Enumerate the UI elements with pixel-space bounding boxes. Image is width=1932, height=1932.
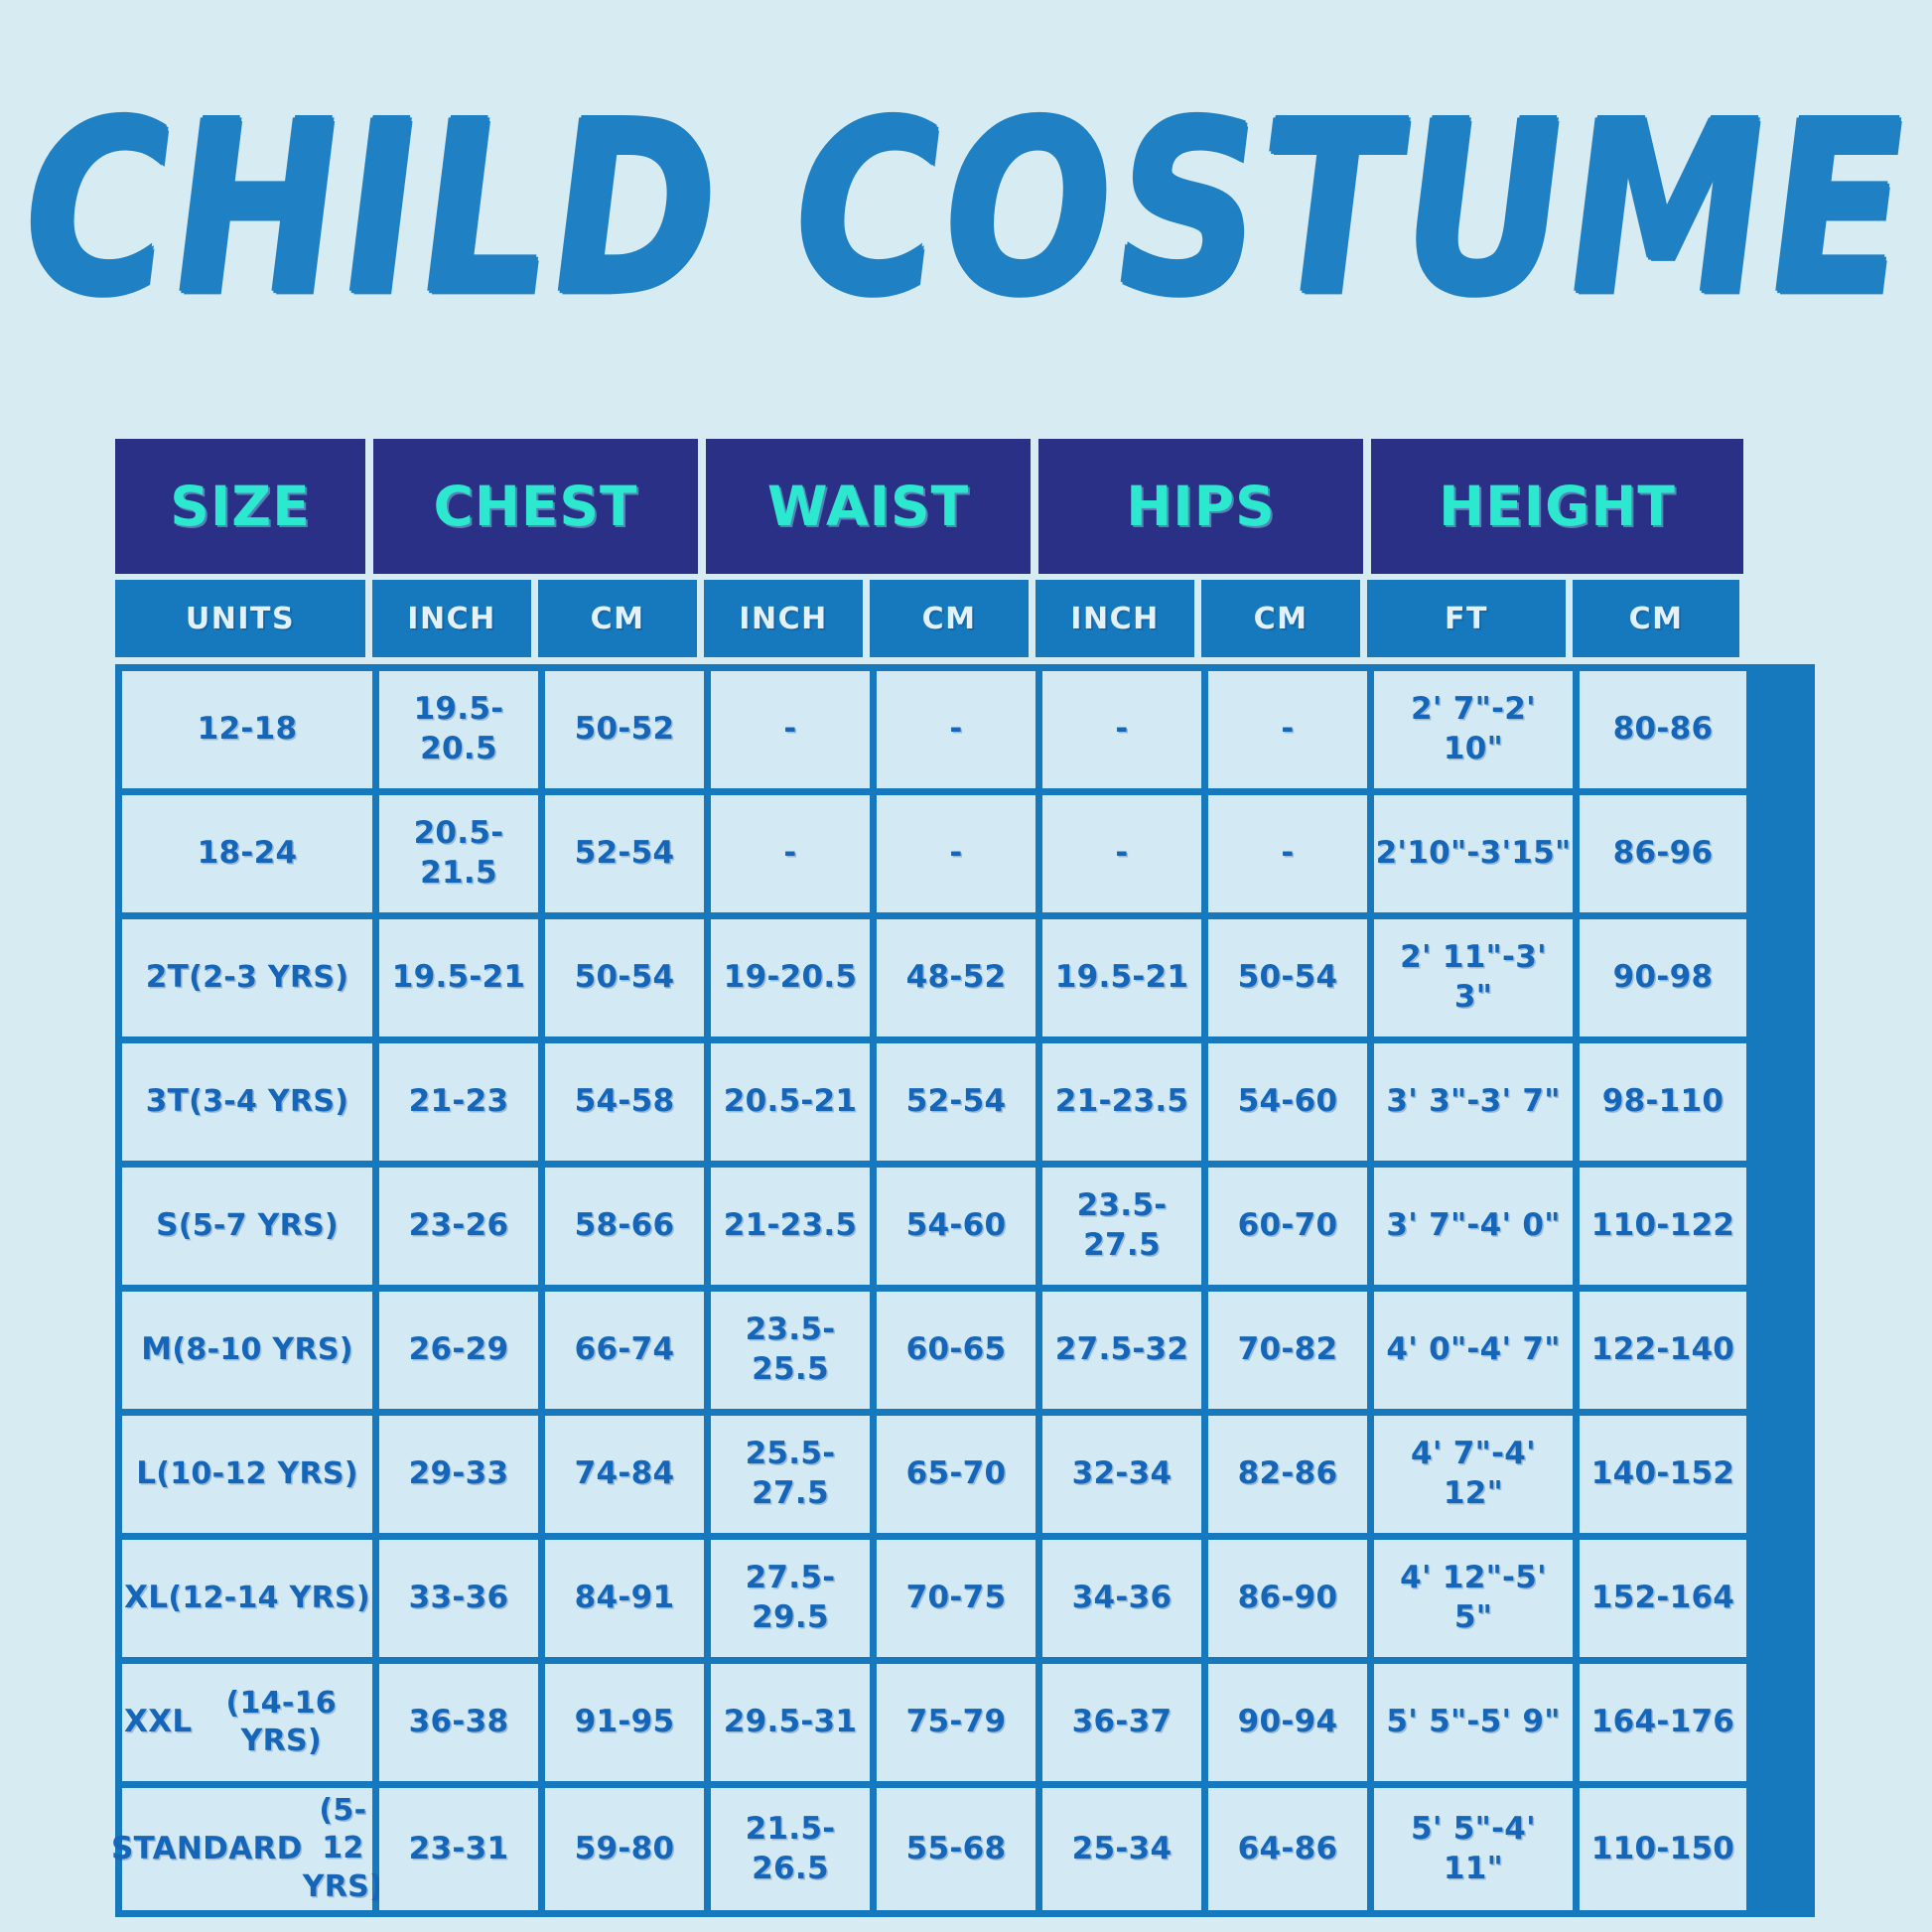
table-cell: 54-58 <box>545 1043 704 1161</box>
table-cell: 34-36 <box>1042 1540 1201 1657</box>
table-cell: 4' 7"-4' 12" <box>1374 1416 1573 1533</box>
table-cell: 91-95 <box>545 1664 704 1781</box>
table-cell: 19.5-20.5 <box>379 671 538 788</box>
group-header-waist: WAIST <box>706 439 1031 574</box>
size-name: XXL <box>124 1703 192 1742</box>
table-cell: 65-70 <box>877 1416 1035 1533</box>
table-cell: 70-75 <box>877 1540 1035 1657</box>
table-cell: 25.5-27.5 <box>711 1416 870 1533</box>
table-cell: 58-66 <box>545 1168 704 1285</box>
table-cell: 29-33 <box>379 1416 538 1533</box>
table-cell: 54-60 <box>1208 1043 1367 1161</box>
table-cell: 55-68 <box>877 1788 1035 1910</box>
size-name: 3T <box>146 1082 189 1122</box>
table-cell: 110-122 <box>1580 1168 1746 1285</box>
table-row: XXL(14-16 YRS)36-3891-9529.5-3175-7936-3… <box>122 1664 1808 1781</box>
table-cell: 66-74 <box>545 1292 704 1409</box>
table-cell: - <box>1208 795 1367 912</box>
row-size-label: L(10-12 YRS) <box>122 1416 372 1533</box>
size-age-range: (5-7 YRS) <box>179 1207 339 1245</box>
size-age-range: (14-16 YRS) <box>192 1685 370 1761</box>
size-name: 12-18 <box>198 710 298 750</box>
row-size-label: 2T(2-3 YRS) <box>122 919 372 1036</box>
table-cell: 48-52 <box>877 919 1035 1036</box>
unit-header-0-units: UNITS <box>115 580 365 657</box>
table-cell: 52-54 <box>545 795 704 912</box>
unit-header-2-cm: CM <box>538 580 697 657</box>
table-cell: 90-98 <box>1580 919 1746 1036</box>
unit-header-3-inch: INCH <box>704 580 863 657</box>
row-size-label: S(5-7 YRS) <box>122 1168 372 1285</box>
table-cell: 140-152 <box>1580 1416 1746 1533</box>
size-age-range: (12-14 YRS) <box>168 1580 370 1617</box>
table-cell: 82-86 <box>1208 1416 1367 1533</box>
table-cell: 36-38 <box>379 1664 538 1781</box>
table-cell: 23-31 <box>379 1788 538 1910</box>
group-header-size: SIZE <box>115 439 365 574</box>
size-name: S <box>156 1206 179 1246</box>
table-cell: 152-164 <box>1580 1540 1746 1657</box>
size-name: STANDARD <box>111 1830 303 1869</box>
table-cell: 33-36 <box>379 1540 538 1657</box>
table-cell: 60-65 <box>877 1292 1035 1409</box>
size-age-range: (10-12 YRS) <box>156 1455 358 1493</box>
table-cell: - <box>877 671 1035 788</box>
table-cell: - <box>1208 671 1367 788</box>
table-cell: 75-79 <box>877 1664 1035 1781</box>
row-size-label: M(8-10 YRS) <box>122 1292 372 1409</box>
table-cell: 25-34 <box>1042 1788 1201 1910</box>
row-size-label: 12-18 <box>122 671 372 788</box>
table-cell: 2' 7"-2' 10" <box>1374 671 1573 788</box>
size-name: XL <box>124 1579 168 1618</box>
unit-header-6-cm: CM <box>1201 580 1360 657</box>
page-title: CHILD COSTUME <box>9 90 1924 328</box>
table-cell: 23.5-25.5 <box>711 1292 870 1409</box>
size-age-range: (5-12 YRS) <box>303 1792 383 1906</box>
table-row: XL(12-14 YRS)33-3684-9127.5-29.570-7534-… <box>122 1540 1808 1657</box>
table-row: 18-2420.5-21.552-54----2'10"-3'15"86-96 <box>122 795 1808 912</box>
table-cell: 4' 0"-4' 7" <box>1374 1292 1573 1409</box>
table-row: 2T(2-3 YRS)19.5-2150-5419-20.548-5219.5-… <box>122 919 1808 1036</box>
table-cell: 5' 5"-4' 11" <box>1374 1788 1573 1910</box>
size-table: SIZECHESTWAISTHIPSHEIGHT UNITSINCHCMINCH… <box>115 439 1815 1917</box>
table-cell: 26-29 <box>379 1292 538 1409</box>
page-title-container: CHILD COSTUME <box>0 95 1932 324</box>
unit-header-1-inch: INCH <box>372 580 531 657</box>
row-size-label: 18-24 <box>122 795 372 912</box>
size-age-range: (2-3 YRS) <box>189 959 348 997</box>
table-row: S(5-7 YRS)23-2658-6621-23.554-6023.5-27.… <box>122 1168 1808 1285</box>
row-size-label: XL(12-14 YRS) <box>122 1540 372 1657</box>
row-size-label: XXL(14-16 YRS) <box>122 1664 372 1781</box>
table-cell: 2'10"-3'15" <box>1374 795 1573 912</box>
table-cell: 19.5-21 <box>1042 919 1201 1036</box>
group-header-row: SIZECHESTWAISTHIPSHEIGHT <box>115 439 1815 574</box>
table-cell: 86-96 <box>1580 795 1746 912</box>
table-cell: 80-86 <box>1580 671 1746 788</box>
table-cell: 23-26 <box>379 1168 538 1285</box>
table-cell: 19.5-21 <box>379 919 538 1036</box>
table-cell: 52-54 <box>877 1043 1035 1161</box>
unit-header-8-cm: CM <box>1573 580 1739 657</box>
table-cell: 70-82 <box>1208 1292 1367 1409</box>
table-cell: 4' 12"-5' 5" <box>1374 1540 1573 1657</box>
table-cell: 3' 3"-3' 7" <box>1374 1043 1573 1161</box>
table-cell: 19-20.5 <box>711 919 870 1036</box>
table-cell: 50-54 <box>545 919 704 1036</box>
table-row: STANDARD(5-12 YRS)23-3159-8021.5-26.555-… <box>122 1788 1808 1910</box>
unit-header-7-ft: FT <box>1367 580 1566 657</box>
size-name: 18-24 <box>198 834 298 874</box>
table-cell: - <box>1042 795 1201 912</box>
table-row: 3T(3-4 YRS)21-2354-5820.5-2152-5421-23.5… <box>122 1043 1808 1161</box>
group-header-chest: CHEST <box>373 439 698 574</box>
size-name: M <box>141 1330 172 1370</box>
table-cell: 27.5-29.5 <box>711 1540 870 1657</box>
table-cell: 20.5-21 <box>711 1043 870 1161</box>
row-size-label: 3T(3-4 YRS) <box>122 1043 372 1161</box>
table-cell: 21-23 <box>379 1043 538 1161</box>
table-cell: 84-91 <box>545 1540 704 1657</box>
table-cell: 60-70 <box>1208 1168 1367 1285</box>
row-size-label: STANDARD(5-12 YRS) <box>122 1788 372 1910</box>
table-cell: 164-176 <box>1580 1664 1746 1781</box>
group-header-height: HEIGHT <box>1371 439 1743 574</box>
table-cell: 50-52 <box>545 671 704 788</box>
table-cell: 90-94 <box>1208 1664 1367 1781</box>
table-cell: - <box>877 795 1035 912</box>
unit-header-4-cm: CM <box>870 580 1029 657</box>
table-cell: - <box>711 795 870 912</box>
table-cell: 32-34 <box>1042 1416 1201 1533</box>
table-cell: 21.5-26.5 <box>711 1788 870 1910</box>
table-cell: 110-150 <box>1580 1788 1746 1910</box>
table-cell: 59-80 <box>545 1788 704 1910</box>
table-cell: 21-23.5 <box>711 1168 870 1285</box>
table-row: L(10-12 YRS)29-3374-8425.5-27.565-7032-3… <box>122 1416 1808 1533</box>
table-body: 12-1819.5-20.550-52----2' 7"-2' 10"80-86… <box>115 664 1815 1917</box>
table-cell: 36-37 <box>1042 1664 1201 1781</box>
size-age-range: (3-4 YRS) <box>189 1083 348 1121</box>
size-name: L <box>136 1454 156 1494</box>
table-cell: 27.5-32 <box>1042 1292 1201 1409</box>
table-cell: 5' 5"-5' 9" <box>1374 1664 1573 1781</box>
table-row: 12-1819.5-20.550-52----2' 7"-2' 10"80-86 <box>122 671 1808 788</box>
table-cell: 50-54 <box>1208 919 1367 1036</box>
table-cell: - <box>1042 671 1201 788</box>
table-cell: 23.5-27.5 <box>1042 1168 1201 1285</box>
unit-header-5-inch: INCH <box>1035 580 1194 657</box>
table-cell: 3' 7"-4' 0" <box>1374 1168 1573 1285</box>
table-cell: 74-84 <box>545 1416 704 1533</box>
table-cell: 64-86 <box>1208 1788 1367 1910</box>
table-cell: 98-110 <box>1580 1043 1746 1161</box>
table-row: M(8-10 YRS)26-2966-7423.5-25.560-6527.5-… <box>122 1292 1808 1409</box>
table-cell: 86-90 <box>1208 1540 1367 1657</box>
table-cell: 21-23.5 <box>1042 1043 1201 1161</box>
unit-header-row: UNITSINCHCMINCHCMINCHCMFTCM <box>115 580 1815 657</box>
table-cell: 29.5-31 <box>711 1664 870 1781</box>
table-cell: 122-140 <box>1580 1292 1746 1409</box>
table-cell: 54-60 <box>877 1168 1035 1285</box>
table-cell: 20.5-21.5 <box>379 795 538 912</box>
table-cell: 2' 11"-3' 3" <box>1374 919 1573 1036</box>
size-name: 2T <box>146 958 189 998</box>
group-header-hips: HIPS <box>1038 439 1363 574</box>
table-cell: - <box>711 671 870 788</box>
size-age-range: (8-10 YRS) <box>172 1331 352 1369</box>
size-chart-page: CHILD COSTUME SIZECHESTWAISTHIPSHEIGHT U… <box>0 0 1932 1932</box>
